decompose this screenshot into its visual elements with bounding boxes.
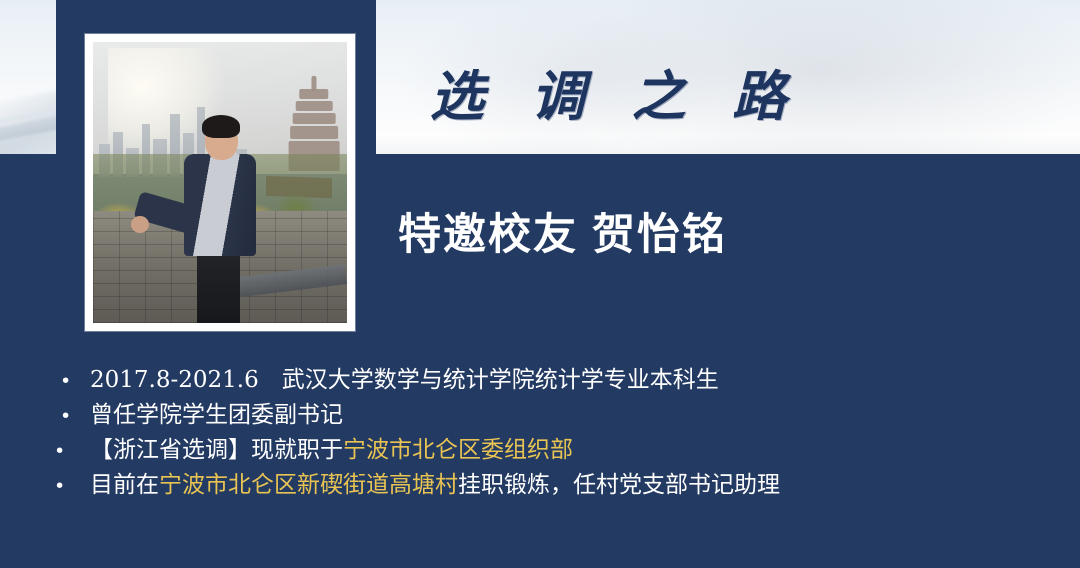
bullet-list: •2017.8-2021.6 武汉大学数学与统计学院统计学专业本科生•曾任学院学… [52,360,1052,500]
bullet-plain-text: 挂职锻炼，任村党支部书记助理 [458,472,780,498]
bullet-item: •目前在宁波市北仑区新碶街道高塘村挂职锻炼，任村党支部书记助理 [52,465,1052,500]
bullet-marker-icon: • [52,370,90,392]
slide-subtitle: 特邀校友 贺怡铭 [398,200,727,262]
bullet-highlight-text: 宁波市北仑区新碶街道高塘村 [159,472,458,498]
bullet-plain-text: 曾任学院学生团委副书记 [90,402,343,428]
bullet-text: 2017.8-2021.6 武汉大学数学与统计学院统计学专业本科生 [90,360,719,394]
portrait-frame [85,34,355,331]
bullet-item: •曾任学院学生团委副书记 [52,395,1052,430]
bullet-text: 曾任学院学生团委副书记 [90,395,343,429]
bullet-item: •2017.8-2021.6 武汉大学数学与统计学院统计学专业本科生 [52,360,1052,395]
bullet-plain-text: 目前在 [90,472,159,498]
photo-person-torso [184,154,255,255]
bullet-item: •【浙江省选调】现就职于宁波市北仑区委组织部 [52,430,1052,465]
bullet-marker-icon: • [52,440,90,462]
portrait-photo [93,42,347,323]
slide-title: 选 调 之 路 [430,52,800,131]
bullet-marker-icon: • [52,475,90,497]
bullet-text: 目前在宁波市北仑区新碶街道高塘村挂职锻炼，任村党支部书记助理 [90,465,780,499]
bullet-marker-icon: • [52,405,90,427]
photo-person-hair [202,115,240,137]
bullet-highlight-text: 宁波市北仑区委组织部 [343,437,573,463]
photo-person-hand [131,216,149,233]
bullet-text: 【浙江省选调】现就职于宁波市北仑区委组织部 [90,430,573,464]
bullet-plain-text: 2017.8-2021.6 武汉大学数学与统计学院统计学专业本科生 [90,367,719,393]
slide-canvas: 选 调 之 路 特邀校友 贺怡铭 •2017.8-2021.6 武汉大学数学与统… [0,0,1080,568]
bullet-plain-text: 【浙江省选调】现就职于 [90,437,343,463]
